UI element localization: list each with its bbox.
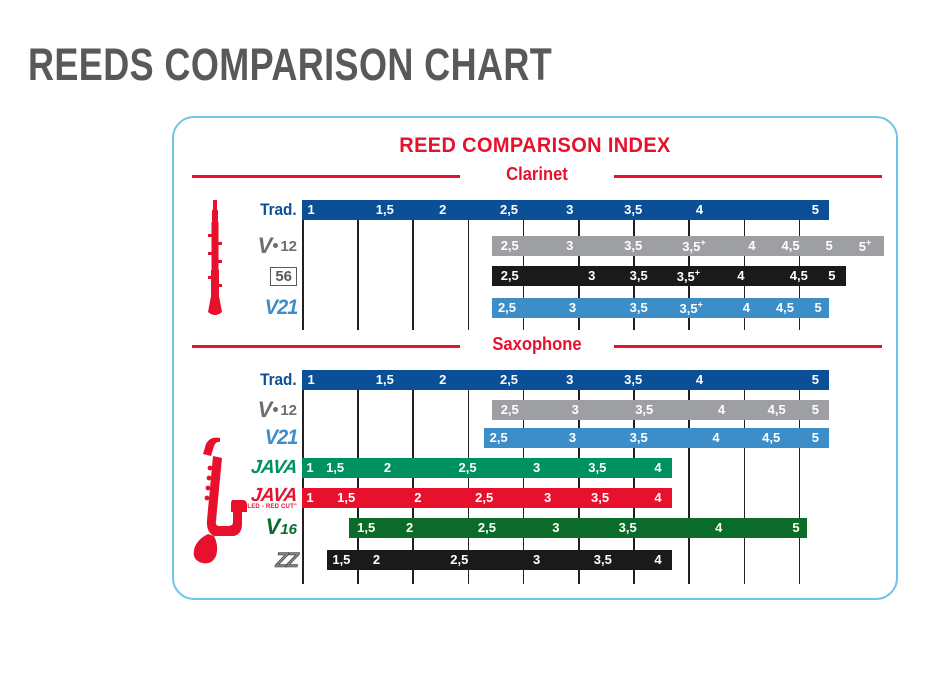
bar-tick-label: 2 — [373, 552, 380, 567]
row-label-v12: V12 — [258, 236, 297, 256]
bar-tick-label: 2,5 — [501, 268, 519, 283]
bar-tick-label: 3,5 — [630, 430, 648, 445]
bar-tick-label: 3,5 — [635, 402, 653, 417]
java-logo: JAVA — [250, 459, 298, 477]
v21-logo: V21 — [264, 428, 297, 448]
java-filed-logo: JAVA"FILED - RED CUT" — [239, 487, 297, 510]
bar-tick-label: 2,5 — [475, 490, 493, 505]
bar-tick-label: 3 — [569, 430, 576, 445]
bar-tick-label: 3,5 — [624, 372, 642, 387]
row-label-v21: V21 — [263, 298, 297, 318]
row-label-trad: Trad. — [256, 200, 297, 220]
chart-row: V212,533,53,5+44,55 — [302, 298, 874, 318]
chart-row: ZZ1,522,533,54 — [302, 550, 874, 570]
section-header-clarinet: Clarinet — [192, 164, 882, 186]
bar-tick-label: 3 — [552, 520, 559, 535]
bar-tick-label: 3,5 — [624, 238, 642, 253]
strength-bar[interactable]: 1,522,533,545 — [349, 518, 807, 538]
bar-tick-label: 1,5 — [337, 490, 355, 505]
chart-row: V212,533,544,55 — [302, 428, 874, 448]
bar-tick-label: 4,5 — [768, 402, 786, 417]
chart-row: JAVA11,522,533,54 — [302, 458, 874, 478]
bar-tick-label: 3 — [566, 238, 573, 253]
bar-tick-label: 1,5 — [326, 460, 344, 475]
strength-bar[interactable]: 2,533,544,55 — [484, 428, 829, 448]
bar-tick-label: 1 — [308, 202, 315, 217]
v16-number: 16 — [280, 521, 297, 538]
bar-tick-label: 5 — [826, 238, 833, 253]
section-header-saxophone: Saxophone — [192, 334, 882, 356]
chart-row: V122,533,544,55 — [302, 400, 874, 420]
bar-tick-label: 4 — [654, 460, 661, 475]
bar-tick-label: 5 — [792, 520, 799, 535]
bar-tick-label: 4,5 — [790, 268, 808, 283]
bar-tick-label: 1,5 — [376, 202, 394, 217]
v16-logo: V16 — [266, 517, 297, 539]
v-glyph: V — [258, 401, 273, 419]
strength-bar[interactable]: 2,533,53,5+44,55 — [492, 266, 845, 286]
bar-tick-label: 4 — [718, 402, 725, 417]
strength-bar[interactable]: 11,522,533,54 — [302, 488, 672, 508]
bar-tick-label: 3,5+ — [682, 238, 705, 254]
strength-bar[interactable]: 11,522,533,545 — [302, 200, 829, 220]
bar-tick-label: 2,5 — [501, 238, 519, 253]
chart-row: Trad.11,522,533,545 — [302, 200, 874, 220]
bar-tick-label: 4,5 — [781, 238, 799, 253]
trad-logo: Trad. — [260, 370, 297, 390]
bar-tick-label: 3 — [566, 372, 573, 387]
bar-tick-label: 5 — [812, 402, 819, 417]
bar-tick-label: 3,5+ — [677, 268, 700, 284]
section-rule-right — [614, 175, 882, 178]
bar-tick-label: 4 — [696, 372, 703, 387]
bar-tick-label: 3,5 — [619, 520, 637, 535]
bar-tick-label: 2,5 — [500, 372, 518, 387]
row-label-v12: V12 — [258, 400, 297, 420]
bar-tick-label: 2,5 — [490, 430, 508, 445]
row-label-java-filed: JAVA"FILED - RED CUT" — [239, 488, 297, 508]
bar-tick-label: 4 — [712, 430, 719, 445]
bar-tick-label: 4 — [748, 238, 755, 253]
bar-tick-label: 3,5 — [588, 460, 606, 475]
bar-tick-label: 2,5 — [459, 460, 477, 475]
bar-tick-label: 3 — [533, 552, 540, 567]
bar-tick-label: 3 — [569, 300, 576, 315]
bar-tick-label: 5+ — [859, 238, 872, 254]
strength-bar[interactable]: 11,522,533,545 — [302, 370, 829, 390]
row-label-v21: V21 — [263, 428, 297, 448]
bar-tick-label: 3,5 — [630, 300, 648, 315]
bar-tick-label: 1 — [308, 372, 315, 387]
row-label-zz: ZZ — [275, 550, 297, 570]
row-label-56: 56 — [270, 266, 297, 286]
card-title: REED COMPARISON INDEX — [192, 134, 878, 158]
bar-tick-label: 2 — [439, 372, 446, 387]
strength-bar[interactable]: 2,533,53,5+44,555+ — [492, 236, 884, 256]
bar-tick-label: 2,5 — [500, 202, 518, 217]
bar-tick-label: 4 — [654, 552, 661, 567]
chart-row: 562,533,53,5+44,55 — [302, 266, 874, 286]
strength-bar[interactable]: 2,533,544,55 — [492, 400, 829, 420]
bar-tick-label: 3,5 — [624, 202, 642, 217]
bar-tick-label: 3 — [566, 202, 573, 217]
clarinet-icon — [202, 200, 228, 318]
bar-tick-label: 1 — [306, 460, 313, 475]
plot-clarinet: Trad.11,522,533,545V122,533,53,5+44,555+… — [302, 200, 874, 330]
row-label-v16: V16 — [266, 518, 297, 538]
bar-tick-label: 4 — [696, 202, 703, 217]
bar-tick-label: 3 — [533, 460, 540, 475]
v21-logo: V21 — [264, 298, 297, 318]
v12-number: 12 — [280, 402, 297, 419]
bar-tick-label: 4,5 — [776, 300, 794, 315]
section-rule-right — [614, 345, 882, 348]
java-wordmark: JAVA — [250, 487, 298, 505]
v12-logo: V12 — [258, 401, 297, 419]
bar-tick-label: 5 — [814, 300, 821, 315]
bar-tick-label: 2,5 — [478, 520, 496, 535]
bar-tick-label: 3,5 — [630, 268, 648, 283]
bar-tick-label: 5 — [812, 202, 819, 217]
bar-tick-label: 2 — [414, 490, 421, 505]
bar-tick-label: 3 — [588, 268, 595, 283]
bar-tick-label: 4 — [743, 300, 750, 315]
v-glyph: V — [266, 514, 281, 539]
bar-tick-label: 2,5 — [501, 402, 519, 417]
strength-bar[interactable]: 11,522,533,54 — [302, 458, 672, 478]
chart-row: Trad.11,522,533,545 — [302, 370, 874, 390]
bar-tick-label: 2 — [439, 202, 446, 217]
56-logo: 56 — [270, 267, 297, 286]
bar-tick-label: 4 — [715, 520, 722, 535]
v12-logo: V12 — [258, 237, 297, 255]
strength-bar[interactable]: 1,522,533,54 — [327, 550, 672, 570]
bar-tick-label: 3 — [544, 490, 551, 505]
dot-icon — [273, 243, 278, 248]
bar-tick-label: 4,5 — [762, 430, 780, 445]
bar-tick-label: 4 — [737, 268, 744, 283]
bar-tick-label: 2,5 — [498, 300, 516, 315]
bar-tick-label: 2 — [406, 520, 413, 535]
trad-logo: Trad. — [260, 200, 297, 220]
chart-row: V122,533,53,5+44,555+ — [302, 236, 874, 256]
bar-tick-label: 3,5 — [594, 552, 612, 567]
bar-tick-label: 5 — [812, 372, 819, 387]
bar-tick-label: 1,5 — [376, 372, 394, 387]
plot-saxophone: Trad.11,522,533,545V122,533,544,55V212,5… — [302, 370, 874, 584]
bar-tick-label: 3 — [572, 402, 579, 417]
bar-tick-label: 5 — [812, 430, 819, 445]
strength-bar[interactable]: 2,533,53,5+44,55 — [492, 298, 829, 318]
bar-tick-label: 1,5 — [357, 520, 375, 535]
bar-tick-label: 2,5 — [450, 552, 468, 567]
v-glyph: V — [258, 237, 273, 255]
row-label-java: JAVA — [251, 458, 297, 478]
v12-number: 12 — [280, 238, 297, 255]
bar-tick-label: 1 — [306, 490, 313, 505]
reed-comparison-card: REED COMPARISON INDEX Clarinet Trad.1 — [172, 116, 898, 600]
row-label-trad: Trad. — [256, 370, 297, 390]
chart-row: JAVA"FILED - RED CUT"11,522,533,54 — [302, 488, 874, 508]
bar-tick-label: 5 — [828, 268, 835, 283]
bar-tick-label: 2 — [384, 460, 391, 475]
bar-tick-label: 3,5+ — [679, 300, 702, 316]
bar-tick-label: 4 — [654, 490, 661, 505]
dot-icon — [273, 407, 278, 412]
page-title: REEDS COMPARISON CHART — [28, 40, 552, 90]
zz-logo: ZZ — [275, 551, 297, 570]
bar-tick-label: 3,5 — [591, 490, 609, 505]
bar-tick-label: 1,5 — [332, 552, 350, 567]
chart-row: V161,522,533,545 — [302, 518, 874, 538]
